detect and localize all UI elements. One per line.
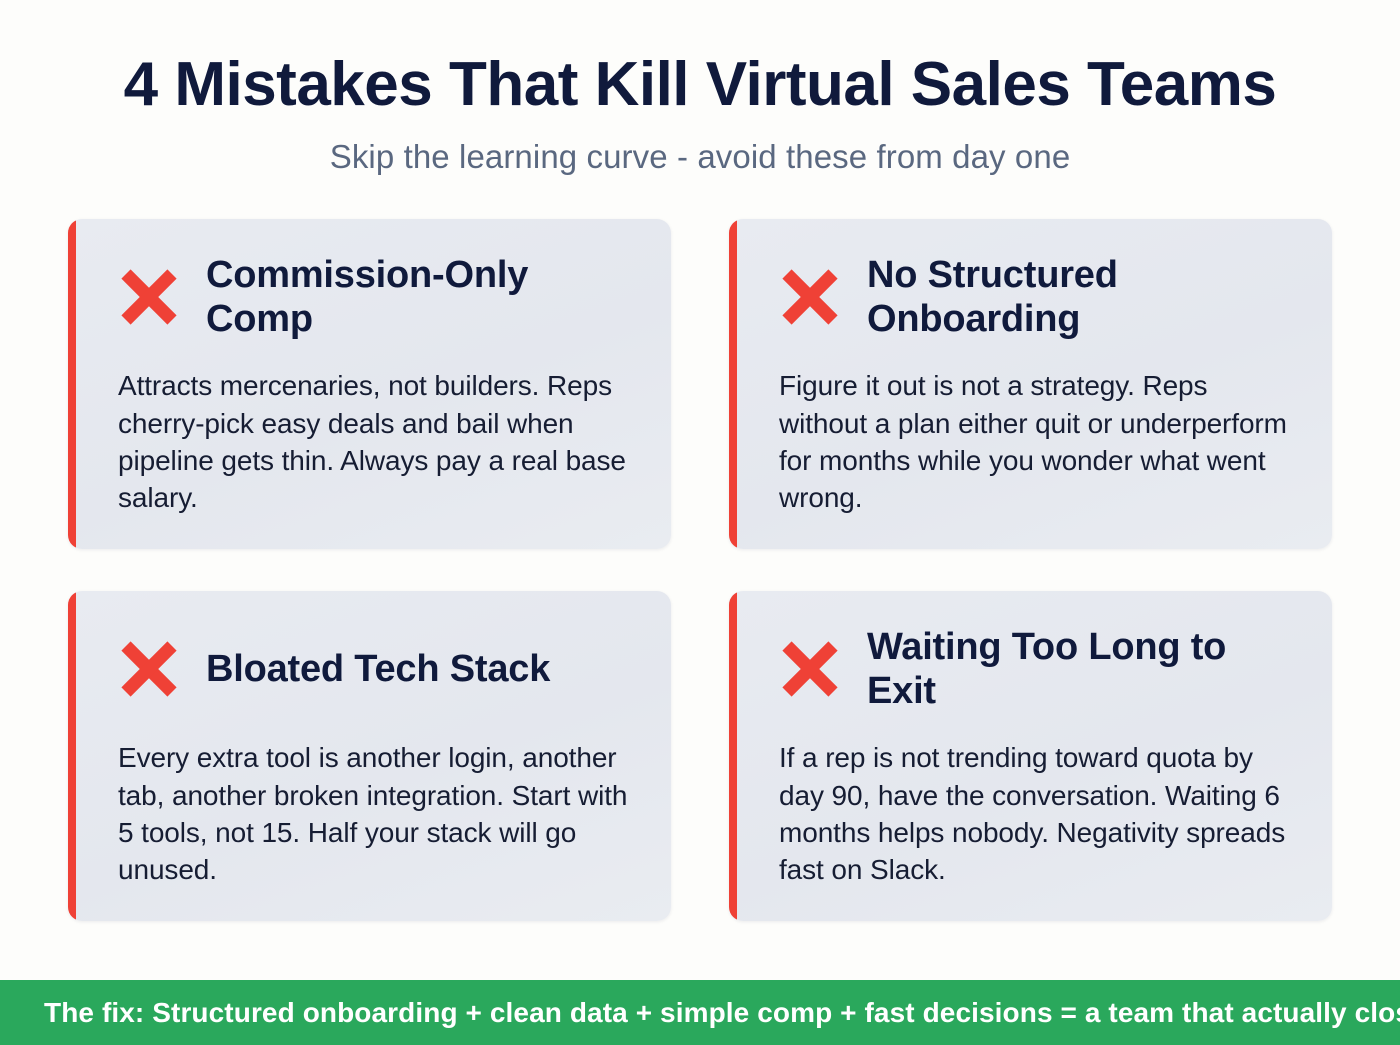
mistake-card-grid: Commission-Only Comp Attracts mercenarie…: [68, 219, 1332, 921]
infographic-page: 4 Mistakes That Kill Virtual Sales Teams…: [0, 0, 1400, 1045]
card-title: Bloated Tech Stack: [206, 647, 550, 692]
card-body: Attracts mercenaries, not builders. Reps…: [118, 367, 637, 516]
page-title: 4 Mistakes That Kill Virtual Sales Teams: [0, 52, 1400, 117]
footer-banner: The fix: Structured onboarding + clean d…: [0, 980, 1400, 1045]
footer-text: The fix: Structured onboarding + clean d…: [0, 997, 1400, 1029]
x-mark-icon: [779, 638, 841, 700]
card-title: No Structured Onboarding: [867, 253, 1298, 343]
card-header: Commission-Only Comp: [118, 249, 637, 345]
mistake-card-4: Waiting Too Long to Exit If a rep is not…: [729, 591, 1332, 921]
card-accent-bar: [729, 219, 737, 549]
card-body: Every extra tool is another login, anoth…: [118, 739, 637, 888]
header: 4 Mistakes That Kill Virtual Sales Teams…: [0, 0, 1400, 175]
page-subtitle: Skip the learning curve - avoid these fr…: [0, 139, 1400, 175]
card-accent-bar: [729, 591, 737, 921]
card-header: No Structured Onboarding: [779, 249, 1298, 345]
card-body: If a rep is not trending toward quota by…: [779, 739, 1298, 888]
card-accent-bar: [68, 219, 76, 549]
card-header: Waiting Too Long to Exit: [779, 621, 1298, 717]
x-mark-icon: [779, 266, 841, 328]
card-header: Bloated Tech Stack: [118, 621, 637, 717]
mistake-card-1: Commission-Only Comp Attracts mercenarie…: [68, 219, 671, 549]
card-accent-bar: [68, 591, 76, 921]
card-body: Figure it out is not a strategy. Reps wi…: [779, 367, 1298, 516]
mistake-card-2: No Structured Onboarding Figure it out i…: [729, 219, 1332, 549]
mistake-card-3: Bloated Tech Stack Every extra tool is a…: [68, 591, 671, 921]
card-title: Commission-Only Comp: [206, 253, 637, 343]
x-mark-icon: [118, 638, 180, 700]
x-mark-icon: [118, 266, 180, 328]
card-title: Waiting Too Long to Exit: [867, 625, 1298, 715]
